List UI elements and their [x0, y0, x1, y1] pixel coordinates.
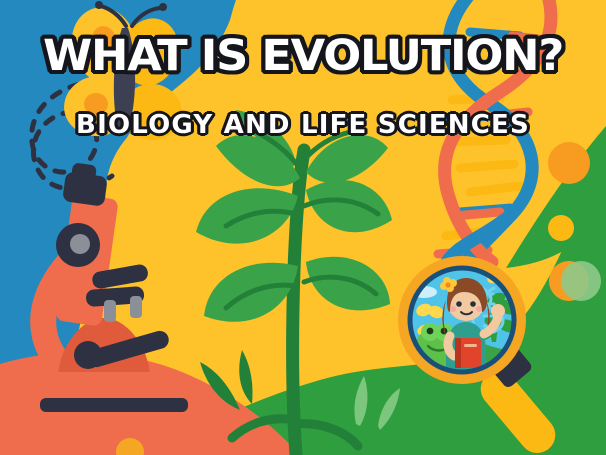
magnifier-illustration	[0, 0, 606, 455]
poster-canvas: WHAT IS EVOLUTION? BIOLOGY AND LIFE SCIE…	[0, 0, 606, 455]
